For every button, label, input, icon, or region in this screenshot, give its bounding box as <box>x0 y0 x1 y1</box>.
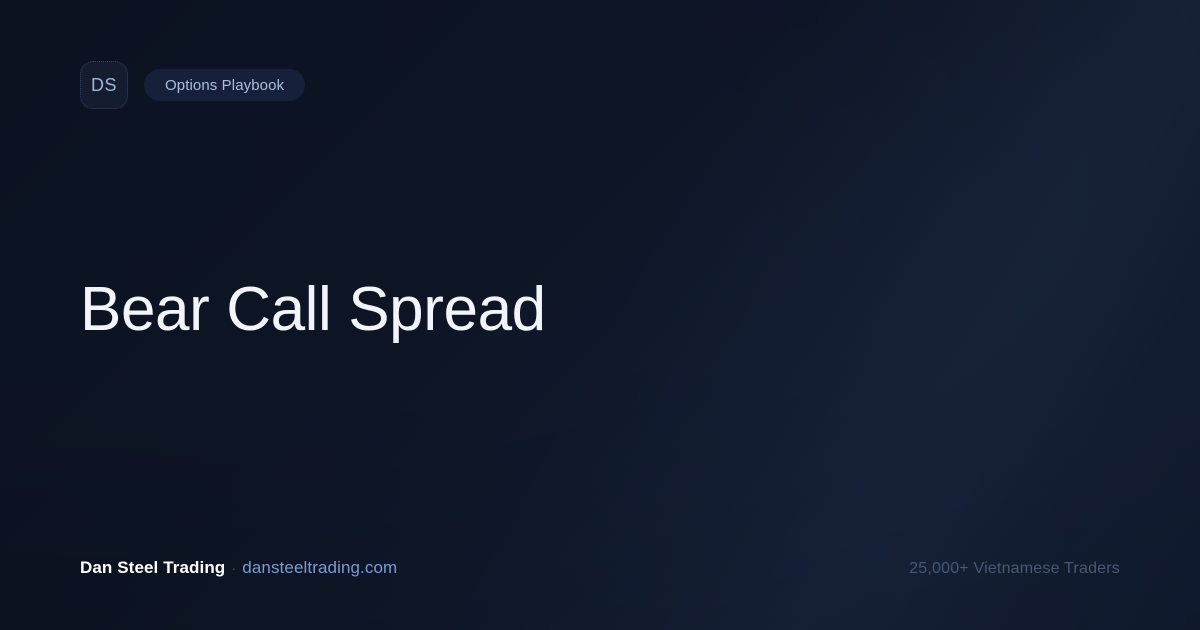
footer-website-link[interactable]: dansteeltrading.com <box>242 558 397 578</box>
brand-badge: DS <box>80 61 128 109</box>
footer-brand-group: Dan Steel Trading · dansteeltrading.com <box>80 558 397 578</box>
category-tag-label: Options Playbook <box>165 77 284 94</box>
brand-monogram-text: DS <box>91 75 117 96</box>
og-card: DS Options Playbook Bear Call Spread Dan… <box>0 0 1200 630</box>
footer-separator-dot: · <box>231 560 236 577</box>
footer: Dan Steel Trading · dansteeltrading.com … <box>80 558 1120 578</box>
card-content: DS Options Playbook Bear Call Spread Dan… <box>0 0 1200 630</box>
footer-audience-stat: 25,000+ Vietnamese Traders <box>909 560 1120 578</box>
page-title: Bear Call Spread <box>80 277 980 344</box>
main: Bear Call Spread <box>80 109 1120 558</box>
header: DS Options Playbook <box>80 61 1120 109</box>
category-tag-pill: Options Playbook <box>144 69 305 101</box>
footer-brand-name: Dan Steel Trading <box>80 558 225 578</box>
